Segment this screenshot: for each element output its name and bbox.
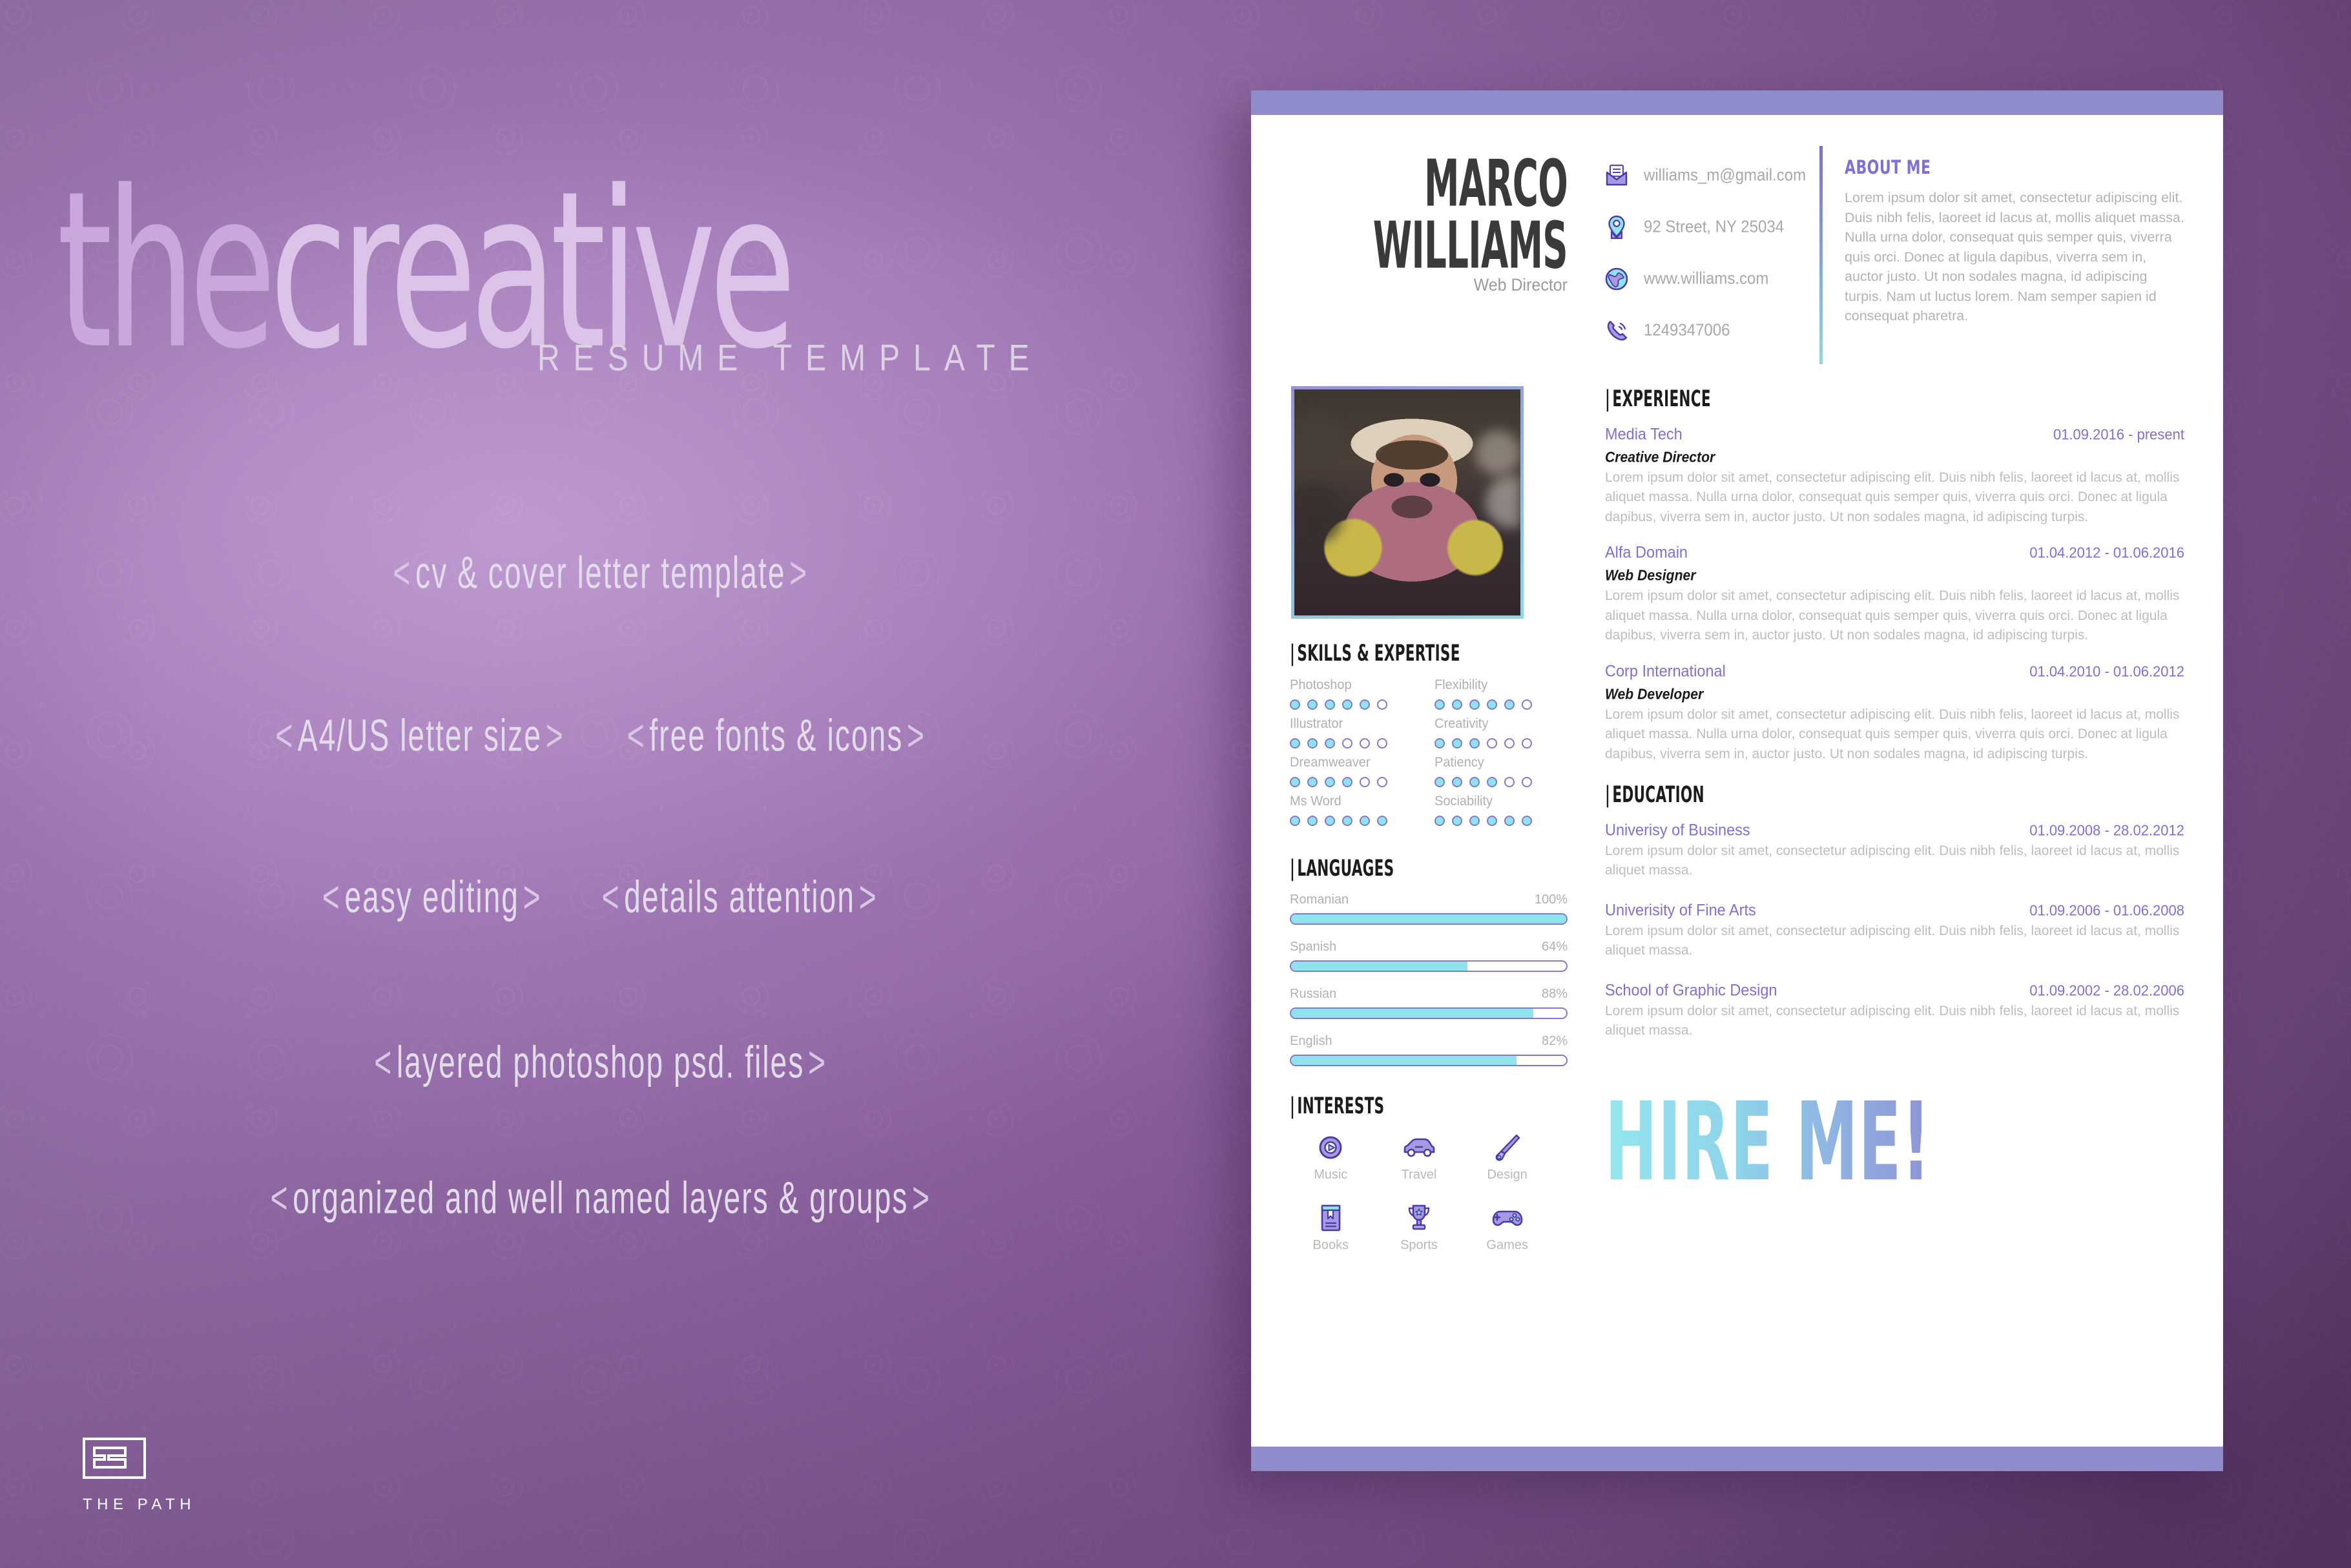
skill-item: Patiency xyxy=(1434,755,1568,787)
entry-header: Media Tech01.09.2016 - present xyxy=(1605,426,2184,443)
language-label: Russian xyxy=(1290,987,1336,1002)
last-name: WILLIAMS xyxy=(1367,216,1568,275)
language-progress-fill xyxy=(1291,1009,1533,1018)
skill-label: Patiency xyxy=(1434,755,1568,770)
skill-label: Sociability xyxy=(1434,794,1568,809)
language-item: Spanish64% xyxy=(1290,940,1568,972)
entry-description: Lorem ipsum dolor sit amet, consectetur … xyxy=(1605,1002,2184,1041)
rating-dot-filled xyxy=(1434,777,1445,787)
skill-label: Photoshop xyxy=(1290,677,1423,693)
language-header: Russian88% xyxy=(1290,987,1568,1002)
feature-item: <easy editing> xyxy=(318,872,545,923)
language-label: Romanian xyxy=(1290,892,1349,907)
education-heading-label: EDUCATION xyxy=(1612,782,1704,808)
entry-header: Univerisy of Business01.09.2008 - 28.02.… xyxy=(1605,821,2184,839)
resume-entry: Univerisy of Business01.09.2008 - 28.02.… xyxy=(1605,821,2184,881)
feature-label: cv & cover letter template xyxy=(415,549,785,599)
skill-label: Flexibility xyxy=(1434,677,1568,693)
rating-dot-filled xyxy=(1522,816,1532,826)
interest-item[interactable]: Games xyxy=(1466,1201,1548,1253)
rating-dot-filled xyxy=(1307,738,1318,748)
languages-list: Romanian100%Spanish64%Russian88%English8… xyxy=(1290,892,1568,1066)
language-label: English xyxy=(1290,1034,1332,1049)
path-logo-icon xyxy=(83,1438,146,1479)
rating-dot-filled xyxy=(1342,699,1352,710)
skill-rating xyxy=(1434,816,1568,826)
rating-dot-filled xyxy=(1452,699,1462,710)
entry-header: Corp International01.04.2010 - 01.06.201… xyxy=(1605,663,2184,680)
rating-dot-filled xyxy=(1487,699,1497,710)
entry-date: 01.09.2016 - present xyxy=(2053,426,2184,444)
language-progress-fill xyxy=(1291,962,1467,971)
entry-organization: Univerisity of Fine Arts xyxy=(1605,901,1756,920)
rating-dot-empty xyxy=(1487,738,1497,748)
resume-right-column: |EXPERIENCE Media Tech01.09.2016 - prese… xyxy=(1568,386,2184,1253)
rating-dot-filled xyxy=(1360,816,1370,826)
rating-dot-filled xyxy=(1504,699,1515,710)
feature-row-3: <easy editing> <details attention> xyxy=(0,880,1201,916)
rating-dot-filled xyxy=(1452,816,1462,826)
profile-photo-frame xyxy=(1291,386,1524,619)
entry-organization: Corp International xyxy=(1605,662,1726,681)
feature-label: free fonts & icons xyxy=(650,712,904,761)
interest-item[interactable]: Design xyxy=(1466,1130,1548,1182)
hire-me-cta[interactable]: HIRE ME! xyxy=(1605,1078,2080,1205)
rating-dot-empty xyxy=(1360,738,1370,748)
contact-list: williams_m@gmail.com 92 Street, NY 25034 xyxy=(1568,146,1819,364)
promo-panel: thecreative RESUME TEMPLATE <cv & cover … xyxy=(0,0,1201,1568)
interests-heading: |INTERESTS xyxy=(1290,1093,1512,1119)
resume-body: MARCO WILLIAMS Web Director xyxy=(1251,115,2223,1447)
language-header: English82% xyxy=(1290,1034,1568,1049)
skill-rating xyxy=(1290,699,1423,710)
skill-item: Photoshop xyxy=(1290,677,1423,710)
interest-label: Music xyxy=(1290,1168,1372,1182)
skill-rating xyxy=(1434,738,1568,748)
gamepad-icon xyxy=(1466,1201,1548,1235)
feature-item: <A4/US letter size> xyxy=(271,710,568,762)
interests-heading-label: INTERESTS xyxy=(1297,1093,1384,1119)
photo-face-detail xyxy=(1294,389,1520,615)
language-progress-fill xyxy=(1291,1056,1517,1065)
about-text: Lorem ipsum dolor sit amet, consectetur … xyxy=(1845,188,2184,326)
entry-header: Alfa Domain01.04.2012 - 01.06.2016 xyxy=(1605,544,2184,561)
skill-rating xyxy=(1434,699,1568,710)
language-item: English82% xyxy=(1290,1034,1568,1066)
entry-description: Lorem ipsum dolor sit amet, consectetur … xyxy=(1605,841,2184,881)
language-header: Romanian100% xyxy=(1290,892,1568,907)
email-icon xyxy=(1604,163,1630,189)
language-percent: 64% xyxy=(1542,940,1568,954)
rating-dot-filled xyxy=(1325,738,1335,748)
contact-value: 1249347006 xyxy=(1644,321,1730,340)
brand-footer: THE PATH xyxy=(83,1438,196,1514)
resume-entry: Media Tech01.09.2016 - presentCreative D… xyxy=(1605,426,2184,527)
skill-item: Sociability xyxy=(1434,794,1568,826)
book-icon xyxy=(1290,1201,1372,1235)
education-list: Univerisy of Business01.09.2008 - 28.02.… xyxy=(1605,821,2184,1041)
rating-dot-empty xyxy=(1504,777,1515,787)
rating-dot-empty xyxy=(1360,777,1370,787)
entry-date: 01.04.2010 - 01.06.2012 xyxy=(2029,663,2184,681)
rating-dot-filled xyxy=(1469,699,1480,710)
skill-label: Creativity xyxy=(1434,716,1568,732)
entry-role: Web Developer xyxy=(1605,685,2161,703)
rating-dot-filled xyxy=(1325,816,1335,826)
experience-list: Media Tech01.09.2016 - presentCreative D… xyxy=(1605,426,2184,764)
language-progress-track xyxy=(1290,913,1568,925)
rating-dot-filled xyxy=(1325,699,1335,710)
resume-entry: School of Graphic Design01.09.2002 - 28.… xyxy=(1605,982,2184,1041)
resume-main: |SKILLS & EXPERTISE PhotoshopFlexibility… xyxy=(1251,364,2223,1253)
rating-dot-filled xyxy=(1342,816,1352,826)
interest-label: Design xyxy=(1466,1168,1548,1182)
interests-grid: MusicTravelDesignBooksSportsGames xyxy=(1290,1130,1548,1253)
first-name: MARCO xyxy=(1367,154,1568,213)
education-heading: |EDUCATION xyxy=(1605,782,2069,808)
job-title: Web Director xyxy=(1290,275,1568,295)
skill-item: Flexibility xyxy=(1434,677,1568,710)
music-play-icon xyxy=(1290,1130,1372,1165)
rating-dot-filled xyxy=(1290,816,1300,826)
brand-name: THE PATH xyxy=(83,1496,196,1514)
entry-organization: Alfa Domain xyxy=(1605,544,1688,562)
skill-label: Ms Word xyxy=(1290,794,1423,809)
rating-dot-filled xyxy=(1487,777,1497,787)
language-progress-track xyxy=(1290,1055,1568,1066)
language-percent: 88% xyxy=(1542,987,1568,1002)
rating-dot-empty xyxy=(1377,738,1387,748)
feature-row-1: <cv & cover letter template> xyxy=(0,555,1201,592)
entry-date: 01.09.2006 - 01.06.2008 xyxy=(2029,902,2184,920)
rating-dot-filled xyxy=(1434,816,1445,826)
rating-dot-filled xyxy=(1290,699,1300,710)
interest-item[interactable]: Music xyxy=(1290,1130,1372,1182)
feature-item: <details attention> xyxy=(598,872,881,923)
language-header: Spanish64% xyxy=(1290,940,1568,954)
phone-icon xyxy=(1604,318,1630,344)
feature-item: <cv & cover letter template> xyxy=(389,548,812,599)
rating-dot-filled xyxy=(1469,738,1480,748)
skill-item: Illustrator xyxy=(1290,716,1423,748)
rating-dot-empty xyxy=(1377,777,1387,787)
resume-card: MARCO WILLIAMS Web Director xyxy=(1251,90,2223,1471)
card-bottom-bar xyxy=(1251,1447,2223,1471)
about-section: ABOUT ME Lorem ipsum dolor sit amet, con… xyxy=(1819,146,2184,364)
logotype-the: the xyxy=(57,145,269,397)
contact-row-email[interactable]: williams_m@gmail.com xyxy=(1604,158,1819,194)
rating-dot-filled xyxy=(1469,777,1480,787)
entry-description: Lorem ipsum dolor sit amet, consectetur … xyxy=(1605,586,2184,645)
skill-label: Dreamweaver xyxy=(1290,755,1423,770)
experience-heading: |EXPERIENCE xyxy=(1605,386,2069,412)
skill-rating xyxy=(1290,816,1423,826)
entry-date: 01.04.2012 - 01.06.2016 xyxy=(2029,544,2184,562)
entry-description: Lorem ipsum dolor sit amet, consectetur … xyxy=(1605,705,2184,764)
entry-date: 01.09.2002 - 28.02.2006 xyxy=(2029,982,2184,1000)
entry-organization: Media Tech xyxy=(1605,425,1683,444)
skill-item: Ms Word xyxy=(1290,794,1423,826)
language-item: Romanian100% xyxy=(1290,892,1568,925)
rating-dot-filled xyxy=(1434,738,1445,748)
feature-label: details attention xyxy=(624,873,855,923)
globe-icon xyxy=(1604,266,1630,292)
feature-label: organized and well named layers & groups xyxy=(293,1174,908,1224)
entry-organization: Univerisy of Business xyxy=(1605,821,1750,840)
rating-dot-empty xyxy=(1377,699,1387,710)
feature-item: <free fonts & icons> xyxy=(623,710,929,762)
feature-row-4: <layered photoshop psd. files> xyxy=(0,1045,1201,1081)
rating-dot-filled xyxy=(1290,738,1300,748)
language-label: Spanish xyxy=(1290,940,1336,954)
about-heading: ABOUT ME xyxy=(1845,156,2144,178)
rating-dot-filled xyxy=(1452,738,1462,748)
entry-organization: School of Graphic Design xyxy=(1605,981,1777,1000)
resume-header: MARCO WILLIAMS Web Director xyxy=(1251,115,2223,364)
name-block: MARCO WILLIAMS Web Director xyxy=(1290,146,1568,364)
skill-rating xyxy=(1290,738,1423,748)
contact-value: www.williams.com xyxy=(1644,269,1768,289)
contact-row-website[interactable]: www.williams.com xyxy=(1604,261,1819,297)
entry-description: Lorem ipsum dolor sit amet, consectetur … xyxy=(1605,468,2184,527)
entry-description: Lorem ipsum dolor sit amet, consectetur … xyxy=(1605,922,2184,961)
entry-header: School of Graphic Design01.09.2002 - 28.… xyxy=(1605,982,2184,999)
skill-item: Creativity xyxy=(1434,716,1568,748)
interest-label: Sports xyxy=(1378,1238,1460,1253)
rating-dot-filled xyxy=(1469,816,1480,826)
interest-item[interactable]: Sports xyxy=(1378,1201,1460,1253)
skill-rating xyxy=(1434,777,1568,787)
card-top-bar xyxy=(1251,90,2223,115)
interest-item[interactable]: Books xyxy=(1290,1201,1372,1253)
skills-heading-label: SKILLS & EXPERTISE xyxy=(1297,641,1460,666)
rating-dot-filled xyxy=(1290,777,1300,787)
paintbrush-icon xyxy=(1466,1130,1548,1165)
rating-dot-filled xyxy=(1360,699,1370,710)
skills-grid: PhotoshopFlexibilityIllustratorCreativit… xyxy=(1290,677,1568,826)
language-progress-track xyxy=(1290,1007,1568,1019)
interest-label: Books xyxy=(1290,1238,1372,1253)
rating-dot-filled xyxy=(1325,777,1335,787)
language-progress-track xyxy=(1290,960,1568,972)
languages-heading: |LANGUAGES xyxy=(1290,856,1512,882)
interest-label: Games xyxy=(1466,1238,1548,1253)
rating-dot-filled xyxy=(1342,777,1352,787)
contact-row-location[interactable]: 92 Street, NY 25034 xyxy=(1604,209,1819,245)
rating-dot-empty xyxy=(1522,699,1532,710)
skill-item: Dreamweaver xyxy=(1290,755,1423,787)
skills-heading: |SKILLS & EXPERTISE xyxy=(1290,641,1512,666)
feature-label: easy editing xyxy=(344,873,519,923)
entry-role: Creative Director xyxy=(1605,448,2161,466)
contact-value: 92 Street, NY 25034 xyxy=(1644,218,1784,237)
rating-dot-filled xyxy=(1377,816,1387,826)
contact-row-phone[interactable]: 1249347006 xyxy=(1604,313,1819,349)
location-icon xyxy=(1604,214,1630,240)
feature-row-5: <organized and well named layers & group… xyxy=(0,1181,1201,1217)
entry-header: Univerisity of Fine Arts01.09.2006 - 01.… xyxy=(1605,902,2184,919)
feature-label: A4/US letter size xyxy=(298,712,542,761)
entry-date: 01.09.2008 - 28.02.2012 xyxy=(2029,821,2184,840)
skill-rating xyxy=(1290,777,1423,787)
contact-value: williams_m@gmail.com xyxy=(1644,166,1806,185)
rating-dot-empty xyxy=(1342,738,1352,748)
rating-dot-filled xyxy=(1487,816,1497,826)
rating-dot-filled xyxy=(1434,699,1445,710)
resume-left-column: |SKILLS & EXPERTISE PhotoshopFlexibility… xyxy=(1290,386,1568,1253)
language-item: Russian88% xyxy=(1290,987,1568,1019)
car-icon xyxy=(1378,1130,1460,1165)
interest-item[interactable]: Travel xyxy=(1378,1130,1460,1182)
language-progress-fill xyxy=(1291,914,1566,923)
rating-dot-filled xyxy=(1504,816,1515,826)
rating-dot-empty xyxy=(1504,738,1515,748)
profile-photo xyxy=(1294,389,1520,615)
feature-item: <layered photoshop psd. files> xyxy=(371,1037,831,1089)
feature-label: layered photoshop psd. files xyxy=(397,1038,804,1088)
feature-item: <organized and well named layers & group… xyxy=(267,1173,935,1224)
skill-label: Illustrator xyxy=(1290,716,1423,732)
experience-heading-label: EXPERIENCE xyxy=(1612,386,1711,412)
rating-dot-empty xyxy=(1522,738,1532,748)
language-percent: 100% xyxy=(1535,892,1568,907)
resume-entry: Corp International01.04.2010 - 01.06.201… xyxy=(1605,663,2184,764)
entry-role: Web Designer xyxy=(1605,567,2161,585)
rating-dot-empty xyxy=(1522,777,1532,787)
feature-row-2: <A4/US letter size> <free fonts & icons> xyxy=(0,718,1201,754)
rating-dot-filled xyxy=(1307,816,1318,826)
rating-dot-filled xyxy=(1307,699,1318,710)
interest-label: Travel xyxy=(1378,1168,1460,1182)
promo-subtitle: RESUME TEMPLATE xyxy=(537,337,1043,380)
rating-dot-filled xyxy=(1307,777,1318,787)
resume-entry: Univerisity of Fine Arts01.09.2006 - 01.… xyxy=(1605,902,2184,961)
rating-dot-filled xyxy=(1452,777,1462,787)
languages-heading-label: LANGUAGES xyxy=(1297,856,1394,882)
trophy-icon xyxy=(1378,1201,1460,1235)
resume-entry: Alfa Domain01.04.2012 - 01.06.2016Web De… xyxy=(1605,544,2184,645)
language-percent: 82% xyxy=(1542,1034,1568,1049)
